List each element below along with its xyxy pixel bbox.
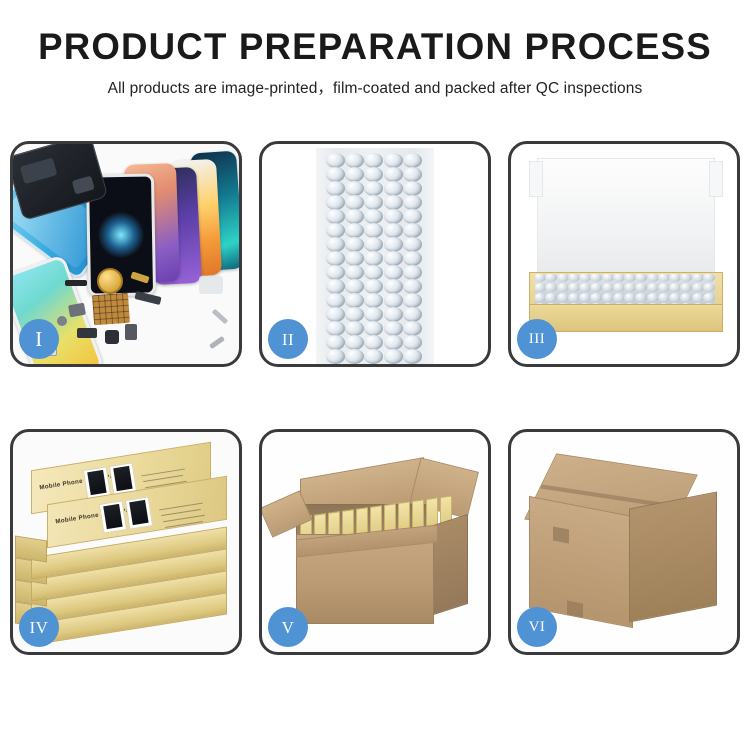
bubble-icon	[345, 209, 364, 224]
bubble-icon	[326, 349, 345, 364]
bubble-icon	[692, 293, 704, 302]
bubble-icon	[384, 237, 403, 252]
screw-icon	[209, 336, 225, 349]
bubble-icon	[326, 167, 345, 182]
step-panel-5[interactable]: V	[259, 429, 491, 655]
bubble-icon	[635, 274, 647, 282]
bubble-icon	[384, 167, 403, 182]
bubble-icon	[384, 293, 403, 308]
bubble-icon	[403, 279, 422, 294]
product-preparation-infographic: PRODUCT PREPARATION PROCESS All products…	[0, 0, 750, 750]
box-lid-icon	[537, 158, 715, 276]
bubble-icon	[345, 251, 364, 266]
bubble-icon	[364, 167, 383, 182]
bubble-icon	[364, 335, 383, 350]
chip-grid-part-icon	[92, 293, 130, 325]
bubble-icon	[326, 307, 345, 322]
bubble-icon	[384, 265, 403, 280]
bubble-icon	[647, 283, 659, 292]
bubble-icon	[345, 195, 364, 210]
part-icon	[125, 324, 137, 340]
bubble-icon	[364, 321, 383, 336]
bubble-icon	[579, 274, 591, 282]
bubble-icon	[364, 307, 383, 322]
bubble-icon	[624, 274, 636, 282]
bubble-icon	[602, 283, 614, 292]
part-icon	[199, 276, 223, 294]
bubble-icon	[403, 167, 422, 182]
step-badge-3: III	[517, 319, 557, 359]
bubble-icon	[364, 153, 383, 168]
bubble-icon	[568, 283, 580, 292]
bubble-icon	[364, 223, 383, 238]
bubble-icon	[326, 321, 345, 336]
kraft-tray-front-icon	[529, 304, 723, 332]
bubble-icon	[364, 181, 383, 196]
step-panel-6[interactable]: VI	[508, 429, 740, 655]
step-badge-2: II	[268, 319, 308, 359]
bubble-icon	[403, 335, 422, 350]
bubble-icon	[345, 307, 364, 322]
bubble-icon	[403, 237, 422, 252]
bubble-icon	[364, 251, 383, 266]
bubble-icon	[384, 195, 403, 210]
bubble-icon	[364, 209, 383, 224]
bubble-icon	[345, 265, 364, 280]
bubble-icon	[545, 293, 557, 302]
bubble-icon	[326, 251, 345, 266]
bubble-icon	[647, 293, 659, 302]
tray-bubble-fill-icon	[535, 274, 715, 306]
bubble-icon	[545, 274, 557, 282]
bubble-icon	[345, 181, 364, 196]
bubble-grid-icon	[327, 154, 423, 358]
box-screen-image-icon	[99, 500, 127, 533]
bubble-icon	[326, 237, 345, 252]
bubble-icon	[692, 283, 704, 292]
page-subtitle: All products are image-printed，film-coat…	[0, 76, 750, 98]
bubble-icon	[364, 293, 383, 308]
bubble-icon	[545, 283, 557, 292]
part-icon	[57, 316, 67, 326]
step-panel-4[interactable]: Mobile Phone Spare Parts Mobile Phone Sp…	[10, 429, 242, 655]
bubble-icon	[384, 209, 403, 224]
bubble-icon	[384, 321, 403, 336]
bubble-icon	[568, 274, 580, 282]
step-badge-5: V	[268, 607, 308, 647]
bubble-icon	[345, 153, 364, 168]
header: PRODUCT PREPARATION PROCESS All products…	[0, 0, 750, 98]
part-icon	[105, 330, 119, 344]
step-panel-3[interactable]: III	[508, 141, 740, 367]
bubble-icon	[326, 195, 345, 210]
bubble-icon	[326, 279, 345, 294]
bubble-icon	[613, 283, 625, 292]
bubble-icon	[680, 293, 692, 302]
carton-tape-icon	[567, 600, 583, 617]
bubble-icon	[364, 265, 383, 280]
bubble-icon	[579, 283, 591, 292]
bubble-icon	[658, 293, 670, 302]
page-title: PRODUCT PREPARATION PROCESS	[4, 28, 747, 67]
bubble-icon	[345, 335, 364, 350]
bubble-icon	[703, 274, 715, 282]
bubble-icon	[384, 349, 403, 364]
sealed-carton-right-face-icon	[629, 491, 717, 622]
bubble-icon	[403, 181, 422, 196]
bubble-icon	[557, 283, 569, 292]
bubble-icon	[647, 274, 659, 282]
bubble-icon	[364, 195, 383, 210]
bubble-icon	[345, 167, 364, 182]
gold-coil-part-icon	[97, 268, 123, 294]
bubble-icon	[590, 293, 602, 302]
bubble-icon	[680, 283, 692, 292]
bubble-icon	[669, 293, 681, 302]
bubble-icon	[403, 195, 422, 210]
bubble-icon	[624, 293, 636, 302]
bubble-icon	[602, 293, 614, 302]
bubble-icon	[326, 181, 345, 196]
part-icon	[134, 291, 161, 305]
bubble-icon	[403, 321, 422, 336]
bubble-icon	[403, 251, 422, 266]
step-panel-2[interactable]: II	[259, 141, 491, 367]
bubble-icon	[703, 283, 715, 292]
bubble-icon	[403, 153, 422, 168]
bubble-icon	[590, 283, 602, 292]
bubble-icon	[557, 274, 569, 282]
bubble-icon	[345, 237, 364, 252]
bubble-icon	[384, 335, 403, 350]
bubble-icon	[326, 265, 345, 280]
bubble-icon	[384, 307, 403, 322]
bubble-icon	[680, 274, 692, 282]
bubble-icon	[635, 293, 647, 302]
bubble-icon	[658, 274, 670, 282]
part-icon	[77, 328, 97, 338]
carton-tape-icon	[553, 526, 569, 543]
bubble-icon	[345, 293, 364, 308]
part-icon	[65, 280, 87, 286]
bubble-icon	[590, 274, 602, 282]
bubble-icon	[345, 279, 364, 294]
bubble-icon	[384, 181, 403, 196]
process-steps-grid: I II III	[10, 141, 740, 655]
bubble-icon	[403, 223, 422, 238]
step-panel-1[interactable]: I	[10, 141, 242, 367]
step-badge-6: VI	[517, 607, 557, 647]
bubble-icon	[635, 283, 647, 292]
bubble-icon	[403, 209, 422, 224]
bubble-icon	[384, 153, 403, 168]
bubble-icon	[345, 223, 364, 238]
step-badge-1: I	[19, 319, 59, 359]
bubble-icon	[669, 283, 681, 292]
bubble-icon	[624, 283, 636, 292]
box-screen-image-icon	[125, 496, 153, 529]
step-badge-4: IV	[19, 607, 59, 647]
bubble-icon	[326, 223, 345, 238]
bubble-icon	[345, 321, 364, 336]
bubble-icon	[403, 349, 422, 364]
bubble-icon	[703, 293, 715, 302]
bubble-icon	[326, 153, 345, 168]
bubble-icon	[403, 265, 422, 280]
bubble-icon	[326, 209, 345, 224]
bubble-icon	[326, 335, 345, 350]
bubble-icon	[579, 293, 591, 302]
screw-icon	[212, 309, 229, 325]
bubble-icon	[384, 279, 403, 294]
bubble-icon	[384, 223, 403, 238]
bubble-icon	[326, 293, 345, 308]
bubble-icon	[364, 237, 383, 252]
bubble-icon	[613, 274, 625, 282]
bubble-icon	[364, 279, 383, 294]
bubble-icon	[403, 307, 422, 322]
bubble-icon	[557, 293, 569, 302]
bubble-icon	[568, 293, 580, 302]
bubble-icon	[602, 274, 614, 282]
bubble-icon	[658, 283, 670, 292]
bubble-icon	[403, 293, 422, 308]
bubble-icon	[669, 274, 681, 282]
bubble-icon	[613, 293, 625, 302]
bubble-icon	[692, 274, 704, 282]
bubble-icon	[384, 251, 403, 266]
